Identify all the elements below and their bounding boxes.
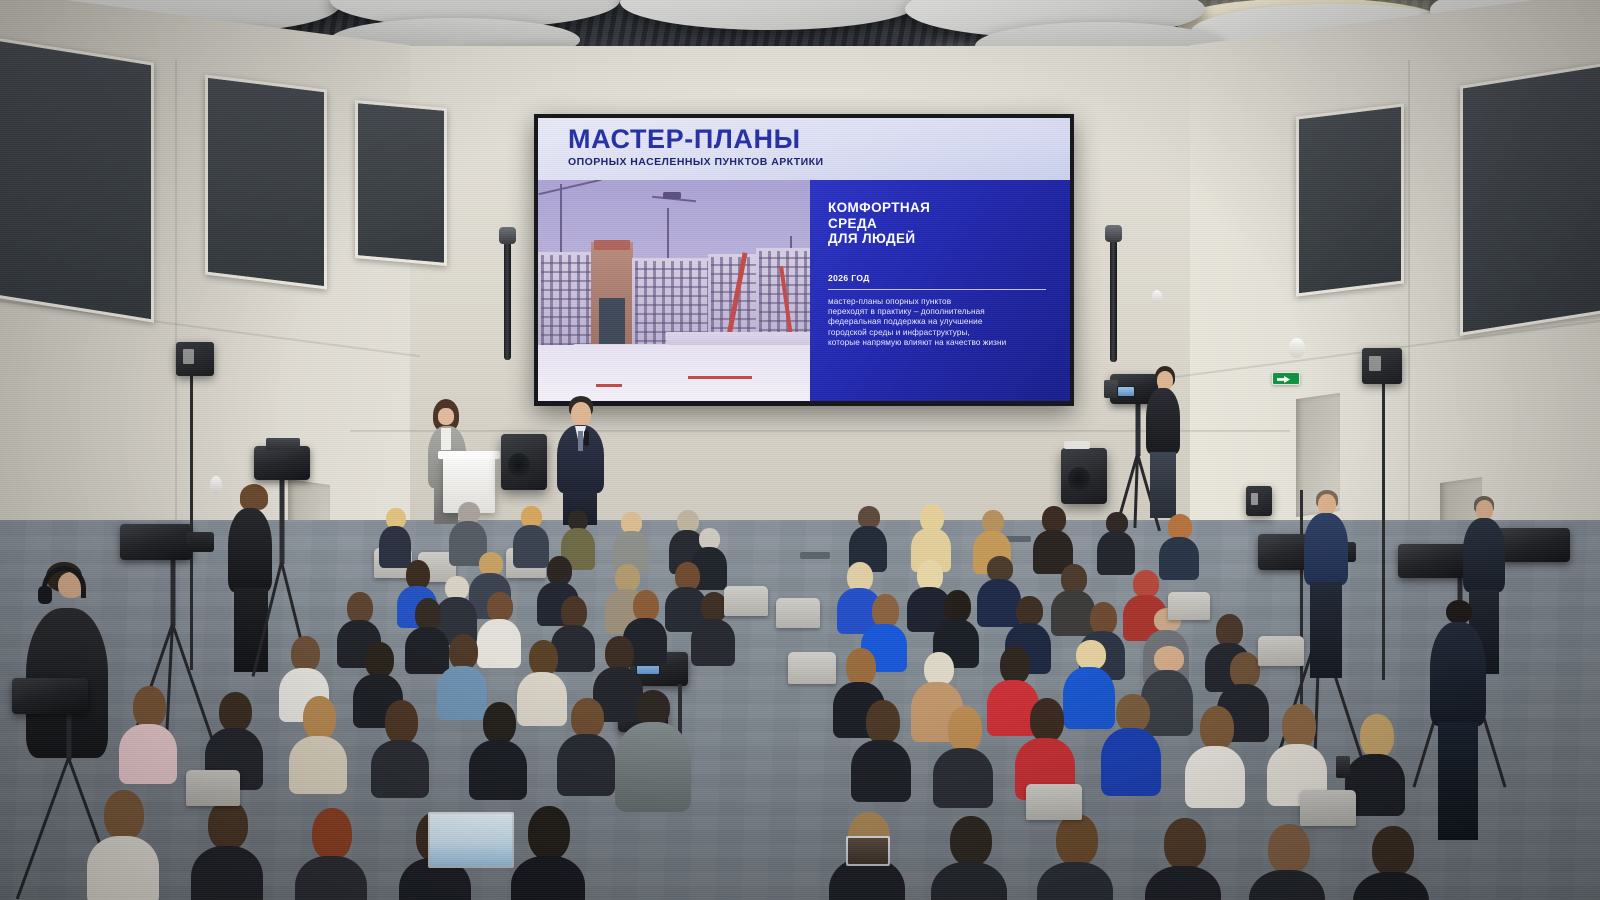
chair xyxy=(1258,636,1304,666)
chair xyxy=(1026,784,1082,820)
attendee-head xyxy=(1000,646,1030,684)
attendee-torso xyxy=(1145,866,1221,900)
chair xyxy=(788,652,836,684)
video-camera xyxy=(254,446,310,480)
attendee-head xyxy=(571,698,604,738)
laptop-screen[interactable] xyxy=(430,814,512,866)
panel-heading-line-3: ДЛЯ ЛЮДЕЙ xyxy=(828,231,1054,247)
attendee-head xyxy=(1056,814,1098,866)
attendee xyxy=(294,808,368,900)
attendee-head xyxy=(1360,714,1394,758)
attendee-head xyxy=(219,692,252,732)
operator-jacket xyxy=(1146,388,1180,454)
attendee-torso xyxy=(1185,746,1245,808)
panel-divider xyxy=(828,289,1046,290)
attendee xyxy=(556,698,616,794)
headphone-cup xyxy=(38,586,52,604)
attendee xyxy=(1184,706,1246,806)
attendee xyxy=(1014,698,1076,798)
attendee-head xyxy=(950,816,992,866)
attendee xyxy=(1144,818,1222,900)
attendee-torso xyxy=(119,724,177,784)
attendee-head xyxy=(104,790,144,840)
attendee-head xyxy=(1076,640,1106,670)
attendee xyxy=(1266,704,1328,804)
attendee-torso xyxy=(469,740,527,800)
chair xyxy=(1300,790,1356,826)
attendee-head xyxy=(866,700,900,744)
panel-year-label: 2026 ГОД xyxy=(828,273,1054,283)
attendee-head xyxy=(291,636,320,672)
acoustic-wall-panel xyxy=(205,75,327,290)
attendee-head xyxy=(1030,698,1064,742)
attendee-head xyxy=(948,706,982,752)
dome-camera-icon xyxy=(210,476,222,494)
site-equipment xyxy=(688,376,752,379)
apartment-block xyxy=(538,252,596,348)
attendee xyxy=(1032,506,1074,572)
attendee-head xyxy=(872,594,899,628)
attendee-head xyxy=(846,648,876,686)
attendee-hoodie-torso xyxy=(615,722,691,812)
chair xyxy=(1168,592,1210,620)
attendee-torso xyxy=(1037,862,1113,900)
attendee-head xyxy=(312,808,352,860)
slide-subtitle: ОПОРНЫХ НАСЕЛЕННЫХ ПУНКТОВ АРКТИКИ xyxy=(568,156,1070,168)
attendee-head xyxy=(605,636,634,671)
attendee-torso xyxy=(295,856,367,900)
video-camera xyxy=(12,678,88,714)
attendee xyxy=(468,702,528,798)
attendee xyxy=(1352,826,1430,900)
exit-sign xyxy=(1272,372,1300,385)
tripod-column xyxy=(1136,400,1141,456)
photographer xyxy=(1300,490,1352,680)
stage-monitor-left xyxy=(501,434,547,490)
floor-socket xyxy=(800,552,830,559)
panel-heading-line-2: СРЕДА xyxy=(828,216,1054,232)
tripod-column xyxy=(280,478,285,564)
chair xyxy=(776,598,820,628)
photographer-sweater xyxy=(1304,513,1348,585)
attendee-head xyxy=(385,700,418,744)
slide-title: МАСТЕР-ПЛАНЫ xyxy=(568,125,1070,154)
wall-speaker-left xyxy=(504,242,511,360)
attendee-head xyxy=(1230,652,1260,688)
camera-lens xyxy=(186,532,214,552)
site-equipment xyxy=(596,384,622,387)
attendee xyxy=(848,506,888,570)
tablet-screen[interactable] xyxy=(848,838,888,864)
dome-camera-icon xyxy=(1152,290,1162,303)
panel-body-line: федеральная поддержка на улучшение xyxy=(828,317,1054,327)
attendee-torso xyxy=(191,846,263,900)
attendee-head xyxy=(365,642,394,678)
attendee xyxy=(612,512,650,570)
panel-body-line: переходят в практику – дополнительная xyxy=(828,307,1054,317)
attendee-head xyxy=(1372,826,1414,876)
attendee xyxy=(932,706,994,806)
camera-operator xyxy=(1143,366,1183,522)
attendee-torso xyxy=(933,748,993,808)
attendee xyxy=(1036,814,1114,900)
light-stand xyxy=(1382,380,1385,680)
acoustic-wall-panel xyxy=(1460,62,1600,336)
attendee xyxy=(378,508,412,566)
attendee xyxy=(510,806,586,900)
acoustic-wall-panel xyxy=(355,100,447,266)
monitor-top-device xyxy=(1064,441,1090,449)
panel-body-line: городской среды и инфраструктуры, xyxy=(828,328,1054,338)
speaker-bracket xyxy=(499,227,516,244)
attendee-head xyxy=(1164,818,1206,870)
attendee xyxy=(930,816,1008,900)
attendee xyxy=(370,700,430,796)
presenter-tie xyxy=(578,431,583,451)
tripod-leg xyxy=(16,757,70,899)
attendee-hoodie xyxy=(614,690,692,810)
attendee-head xyxy=(1042,506,1066,533)
laptop[interactable] xyxy=(428,812,514,868)
operator-legs xyxy=(1150,452,1176,518)
attendee-head xyxy=(1200,706,1234,750)
presenter-face xyxy=(438,408,454,425)
panel-body-line: которые напрямую влияют на качество жизн… xyxy=(828,338,1054,348)
attendee-torso xyxy=(87,836,159,900)
attendee-hair xyxy=(1446,600,1472,624)
video-camera xyxy=(120,524,192,560)
attendee-torso xyxy=(289,736,347,794)
projection-screen: МАСТЕР-ПЛАНЫ ОПОРНЫХ НАСЕЛЕННЫХ ПУНКТОВ … xyxy=(534,114,1074,406)
attendee-torso xyxy=(691,619,735,666)
attendee-jacket xyxy=(1430,622,1486,726)
attendee xyxy=(86,790,160,900)
slide-photo-construction-site xyxy=(538,180,810,401)
attendee-torso xyxy=(557,734,615,796)
attendee xyxy=(850,700,912,800)
building-panel xyxy=(594,240,630,250)
attendee-head xyxy=(1133,570,1159,598)
attendee xyxy=(1096,512,1136,574)
attendee-torso xyxy=(511,856,585,900)
attendee-head xyxy=(133,686,166,728)
mobile-phone xyxy=(1336,756,1350,778)
tablet-device[interactable] xyxy=(846,836,890,866)
presenter-male xyxy=(554,398,606,524)
attendee-head xyxy=(1154,646,1184,672)
slide-body: КОМФОРТНАЯ СРЕДА ДЛЯ ЛЮДЕЙ 2026 ГОД маст… xyxy=(538,180,1070,401)
stage-monitor-right xyxy=(1061,448,1107,504)
attendee-head xyxy=(529,640,558,676)
lectern-top xyxy=(438,451,500,459)
attendee-torso xyxy=(1353,872,1429,900)
attendee-head xyxy=(1116,694,1150,732)
attendee xyxy=(1158,514,1200,578)
acoustic-wall-panel xyxy=(0,37,154,322)
operator-jacket xyxy=(1463,518,1505,592)
chair xyxy=(186,770,240,806)
crane-counterweight xyxy=(663,192,681,199)
attendee-legs xyxy=(1438,722,1478,840)
dome-camera-icon xyxy=(1289,338,1305,358)
attendee xyxy=(1248,824,1326,900)
led-light-panel xyxy=(1246,486,1272,516)
attendee-head xyxy=(1282,704,1316,748)
attendee xyxy=(118,686,178,782)
attendee xyxy=(1100,694,1162,794)
microphone xyxy=(584,430,589,446)
camera-lens-hood xyxy=(1104,380,1118,398)
slide-header: МАСТЕР-ПЛАНЫ ОПОРНЫХ НАСЕЛЕННЫХ ПУНКТОВ … xyxy=(538,118,1070,180)
attendee-head xyxy=(487,592,513,622)
led-light-panel xyxy=(176,342,214,376)
attendee-torso xyxy=(1101,728,1161,796)
attendee-head xyxy=(483,702,516,744)
attendee-head xyxy=(1016,596,1043,626)
attendee-head-with-cap xyxy=(924,652,954,686)
attendee xyxy=(190,800,264,900)
wall-speaker-right xyxy=(1110,240,1117,362)
attendee-head xyxy=(528,806,570,860)
operator-legs xyxy=(1310,582,1342,678)
slide: МАСТЕР-ПЛАНЫ ОПОРНЫХ НАСЕЛЕННЫХ ПУНКТОВ … xyxy=(538,118,1070,401)
speaker-bracket xyxy=(1105,225,1122,242)
attendee-torso xyxy=(371,740,429,798)
acoustic-wall-panel xyxy=(1296,103,1404,296)
attendee-torso xyxy=(931,862,1007,900)
attendee-head xyxy=(615,564,640,592)
slide-text-panel: КОМФОРТНАЯ СРЕДА ДЛЯ ЛЮДЕЙ 2026 ГОД маст… xyxy=(810,180,1070,401)
attendee-torso xyxy=(1097,531,1135,575)
conference-hall-scene: МАСТЕР-ПЛАНЫ ОПОРНЫХ НАСЕЛЕННЫХ ПУНКТОВ … xyxy=(0,0,1600,900)
attendee xyxy=(288,696,348,792)
attendee-head xyxy=(449,634,478,670)
attendee-head xyxy=(636,690,670,726)
attendee-head xyxy=(303,696,336,740)
attendee-head xyxy=(208,800,248,850)
operator-head xyxy=(1476,500,1493,520)
attendee-head xyxy=(1268,824,1310,874)
presenter-blouse xyxy=(441,428,451,450)
panel-heading-line-1: КОМФОРТНАЯ xyxy=(828,200,1054,216)
photo-snow-ground xyxy=(538,345,810,401)
attendee-torso xyxy=(851,740,911,802)
attendee-torso xyxy=(1249,870,1325,900)
video-camera xyxy=(1498,528,1570,562)
panel-body-line: мастер-планы опорных пунктов xyxy=(828,297,1054,307)
presenter-head xyxy=(571,402,591,426)
camera-lens-hood xyxy=(266,438,300,450)
chair xyxy=(724,586,768,616)
led-light-panel xyxy=(1362,348,1402,384)
standing-attendee xyxy=(1428,600,1488,840)
operator-head xyxy=(1318,494,1336,515)
camera-viewfinder-screen xyxy=(1117,386,1135,397)
building-door xyxy=(599,298,625,350)
